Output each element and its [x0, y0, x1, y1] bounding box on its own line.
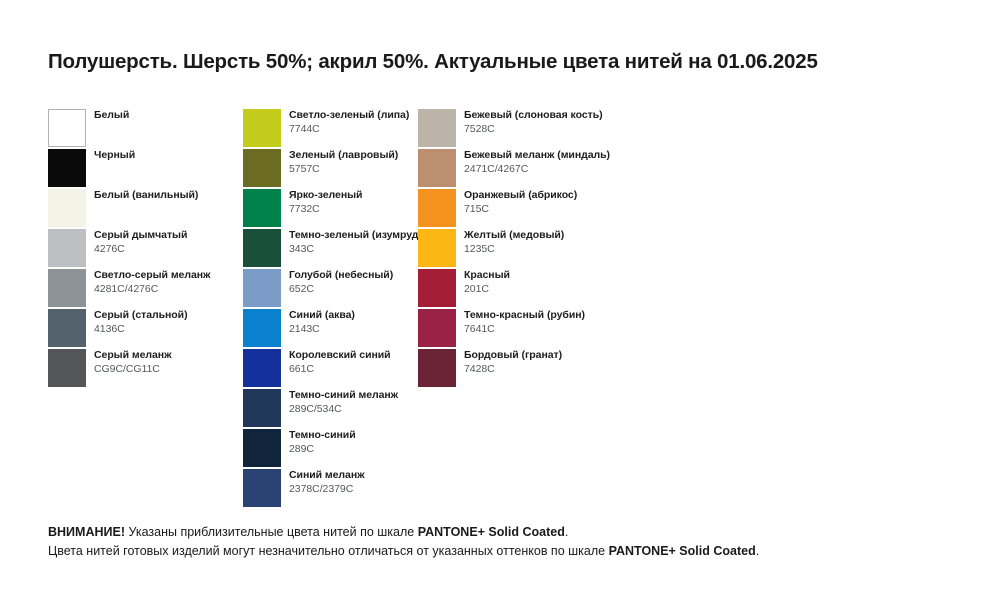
color-swatch — [418, 109, 456, 147]
color-pantone-code: CG9C/CG11C — [94, 363, 244, 376]
color-name: Бежевый меланж (миндаль) — [464, 149, 639, 162]
color-swatch-row: Белый (ванильный) — [48, 189, 233, 229]
footer-line-2: Цвета нитей готовых изделий могут незнач… — [48, 542, 948, 561]
color-pantone-code: 2378C/2379C — [289, 483, 439, 496]
color-swatch-row: Серый (стальной)4136C — [48, 309, 233, 349]
color-name: Темно-зеленый (изумруд) — [289, 229, 439, 242]
color-swatch-row: Ярко-зеленый7732C — [243, 189, 418, 229]
color-name: Серый меланж — [94, 349, 244, 362]
color-swatch-row: Темно-синий289C — [243, 429, 418, 469]
color-name: Красный — [464, 269, 639, 282]
color-pantone-code: 5757C — [289, 163, 439, 176]
color-pantone-code: 1235C — [464, 243, 639, 256]
color-swatch-row: Темно-зеленый (изумруд)343C — [243, 229, 418, 269]
color-swatch — [418, 229, 456, 267]
color-swatch-row: Серый меланжCG9C/CG11C — [48, 349, 233, 389]
color-swatch-text: Желтый (медовый)1235C — [464, 229, 639, 256]
color-swatch-text: Серый меланжCG9C/CG11C — [94, 349, 244, 376]
footer-brand-1: PANTONE+ Solid Coated — [418, 525, 565, 539]
footer-line-1-text: Указаны приблизительные цвета нитей по ш… — [125, 525, 418, 539]
footer-line-1: ВНИМАНИЕ! Указаны приблизительные цвета … — [48, 523, 948, 542]
footer-brand-2: PANTONE+ Solid Coated — [609, 544, 756, 558]
color-pantone-code: 4281C/4276C — [94, 283, 244, 296]
color-swatch — [243, 269, 281, 307]
color-name: Бордовый (гранат) — [464, 349, 639, 362]
color-pantone-code: 652C — [289, 283, 439, 296]
color-swatch — [243, 469, 281, 507]
color-swatch-row: Синий (аква)2143C — [243, 309, 418, 349]
color-swatch-row: Темно-красный (рубин)7641C — [418, 309, 618, 349]
color-swatch — [243, 389, 281, 427]
color-swatch-text: Темно-зеленый (изумруд)343C — [289, 229, 439, 256]
color-swatch-text: Ярко-зеленый7732C — [289, 189, 439, 216]
color-pantone-code: 7428C — [464, 363, 639, 376]
color-swatch-text: Белый — [94, 109, 244, 122]
footer-line-2-end: . — [756, 544, 759, 558]
footer-line-1-end: . — [565, 525, 568, 539]
color-swatch-row: Голубой (небесный)652C — [243, 269, 418, 309]
color-pantone-code: 7641C — [464, 323, 639, 336]
color-swatch-text: Серый (стальной)4136C — [94, 309, 244, 336]
color-swatch — [48, 109, 86, 147]
color-swatch-text: Бордовый (гранат)7428C — [464, 349, 639, 376]
color-chart-page: Полушерсть. Шерсть 50%; акрил 50%. Актуа… — [0, 0, 1000, 609]
color-name: Серый дымчатый — [94, 229, 244, 242]
color-swatch-row: Бежевый меланж (миндаль)2471C/4267C — [418, 149, 618, 189]
color-swatch-text: Светло-серый меланж4281C/4276C — [94, 269, 244, 296]
color-name: Бежевый (слоновая кость) — [464, 109, 639, 122]
color-swatch-row: Бордовый (гранат)7428C — [418, 349, 618, 389]
footer-attention-label: ВНИМАНИЕ! — [48, 525, 125, 539]
color-swatch-row: Желтый (медовый)1235C — [418, 229, 618, 269]
color-swatch — [243, 309, 281, 347]
color-column-1: БелыйЧерныйБелый (ванильный)Серый дымчат… — [48, 109, 233, 389]
color-swatch-text: Черный — [94, 149, 244, 162]
color-swatch-text: Светло-зеленый (липа)7744C — [289, 109, 439, 136]
color-swatch-text: Белый (ванильный) — [94, 189, 244, 202]
color-swatch — [418, 189, 456, 227]
color-name: Зеленый (лавровый) — [289, 149, 439, 162]
color-swatch-row: Зеленый (лавровый)5757C — [243, 149, 418, 189]
color-swatch-text: Бежевый меланж (миндаль)2471C/4267C — [464, 149, 639, 176]
color-swatch-row: Светло-серый меланж4281C/4276C — [48, 269, 233, 309]
color-swatch — [243, 109, 281, 147]
color-swatch — [48, 269, 86, 307]
color-pantone-code: 4276C — [94, 243, 244, 256]
color-name: Королевский синий — [289, 349, 439, 362]
color-swatch-text: Темно-красный (рубин)7641C — [464, 309, 639, 336]
color-name: Оранжевый (абрикос) — [464, 189, 639, 202]
color-pantone-code: 2471C/4267C — [464, 163, 639, 176]
color-swatch — [48, 149, 86, 187]
color-swatch-text: Бежевый (слоновая кость)7528C — [464, 109, 639, 136]
color-pantone-code: 7528C — [464, 123, 639, 136]
color-swatch-row: Светло-зеленый (липа)7744C — [243, 109, 418, 149]
color-pantone-code: 7732C — [289, 203, 439, 216]
color-swatch — [48, 189, 86, 227]
color-name: Желтый (медовый) — [464, 229, 639, 242]
color-pantone-code: 289C/534C — [289, 403, 439, 416]
color-swatch-text: Королевский синий661C — [289, 349, 439, 376]
color-name: Ярко-зеленый — [289, 189, 439, 202]
color-name: Белый (ванильный) — [94, 189, 244, 202]
color-name: Светло-зеленый (липа) — [289, 109, 439, 122]
color-name: Черный — [94, 149, 244, 162]
color-name: Темно-синий меланж — [289, 389, 439, 402]
color-swatch — [243, 149, 281, 187]
color-swatch — [243, 229, 281, 267]
color-swatch-text: Серый дымчатый4276C — [94, 229, 244, 256]
color-swatch-row: Темно-синий меланж289C/534C — [243, 389, 418, 429]
color-swatch-row: Оранжевый (абрикос)715C — [418, 189, 618, 229]
color-swatch — [48, 349, 86, 387]
color-pantone-code: 4136C — [94, 323, 244, 336]
color-swatch — [418, 309, 456, 347]
color-name: Серый (стальной) — [94, 309, 244, 322]
color-swatch-text: Зеленый (лавровый)5757C — [289, 149, 439, 176]
color-swatch — [418, 149, 456, 187]
color-swatch-text: Синий (аква)2143C — [289, 309, 439, 336]
color-swatch-row: Бежевый (слоновая кость)7528C — [418, 109, 618, 149]
color-name: Белый — [94, 109, 244, 122]
color-name: Голубой (небесный) — [289, 269, 439, 282]
color-swatch — [243, 189, 281, 227]
color-swatch — [243, 349, 281, 387]
color-swatch-text: Оранжевый (абрикос)715C — [464, 189, 639, 216]
footer-notice: ВНИМАНИЕ! Указаны приблизительные цвета … — [48, 523, 948, 561]
color-swatch-row: Красный201C — [418, 269, 618, 309]
color-pantone-code: 343C — [289, 243, 439, 256]
color-swatch-row: Серый дымчатый4276C — [48, 229, 233, 269]
color-pantone-code: 289C — [289, 443, 439, 456]
color-swatch — [48, 309, 86, 347]
color-name: Темно-красный (рубин) — [464, 309, 639, 322]
color-swatch-text: Голубой (небесный)652C — [289, 269, 439, 296]
color-swatch-text: Темно-синий289C — [289, 429, 439, 456]
page-title: Полушерсть. Шерсть 50%; акрил 50%. Актуа… — [48, 50, 968, 74]
color-swatch — [418, 269, 456, 307]
color-pantone-code: 661C — [289, 363, 439, 376]
color-name: Синий (аква) — [289, 309, 439, 322]
color-swatch-row: Синий меланж2378C/2379C — [243, 469, 418, 509]
footer-line-2-text: Цвета нитей готовых изделий могут незнач… — [48, 544, 609, 558]
color-pantone-code: 2143C — [289, 323, 439, 336]
color-column-2: Светло-зеленый (липа)7744CЗеленый (лавро… — [243, 109, 418, 509]
color-name: Светло-серый меланж — [94, 269, 244, 282]
color-swatch-row: Белый — [48, 109, 233, 149]
color-name: Синий меланж — [289, 469, 439, 482]
color-swatch — [418, 349, 456, 387]
color-swatch-text: Темно-синий меланж289C/534C — [289, 389, 439, 416]
color-pantone-code: 201C — [464, 283, 639, 296]
color-name: Темно-синий — [289, 429, 439, 442]
color-pantone-code: 715C — [464, 203, 639, 216]
color-column-3: Бежевый (слоновая кость)7528CБежевый мел… — [418, 109, 618, 389]
color-swatch-row: Королевский синий661C — [243, 349, 418, 389]
color-swatch-row: Черный — [48, 149, 233, 189]
color-swatch-text: Синий меланж2378C/2379C — [289, 469, 439, 496]
color-swatch — [48, 229, 86, 267]
color-pantone-code: 7744C — [289, 123, 439, 136]
color-swatch-text: Красный201C — [464, 269, 639, 296]
color-swatch — [243, 429, 281, 467]
